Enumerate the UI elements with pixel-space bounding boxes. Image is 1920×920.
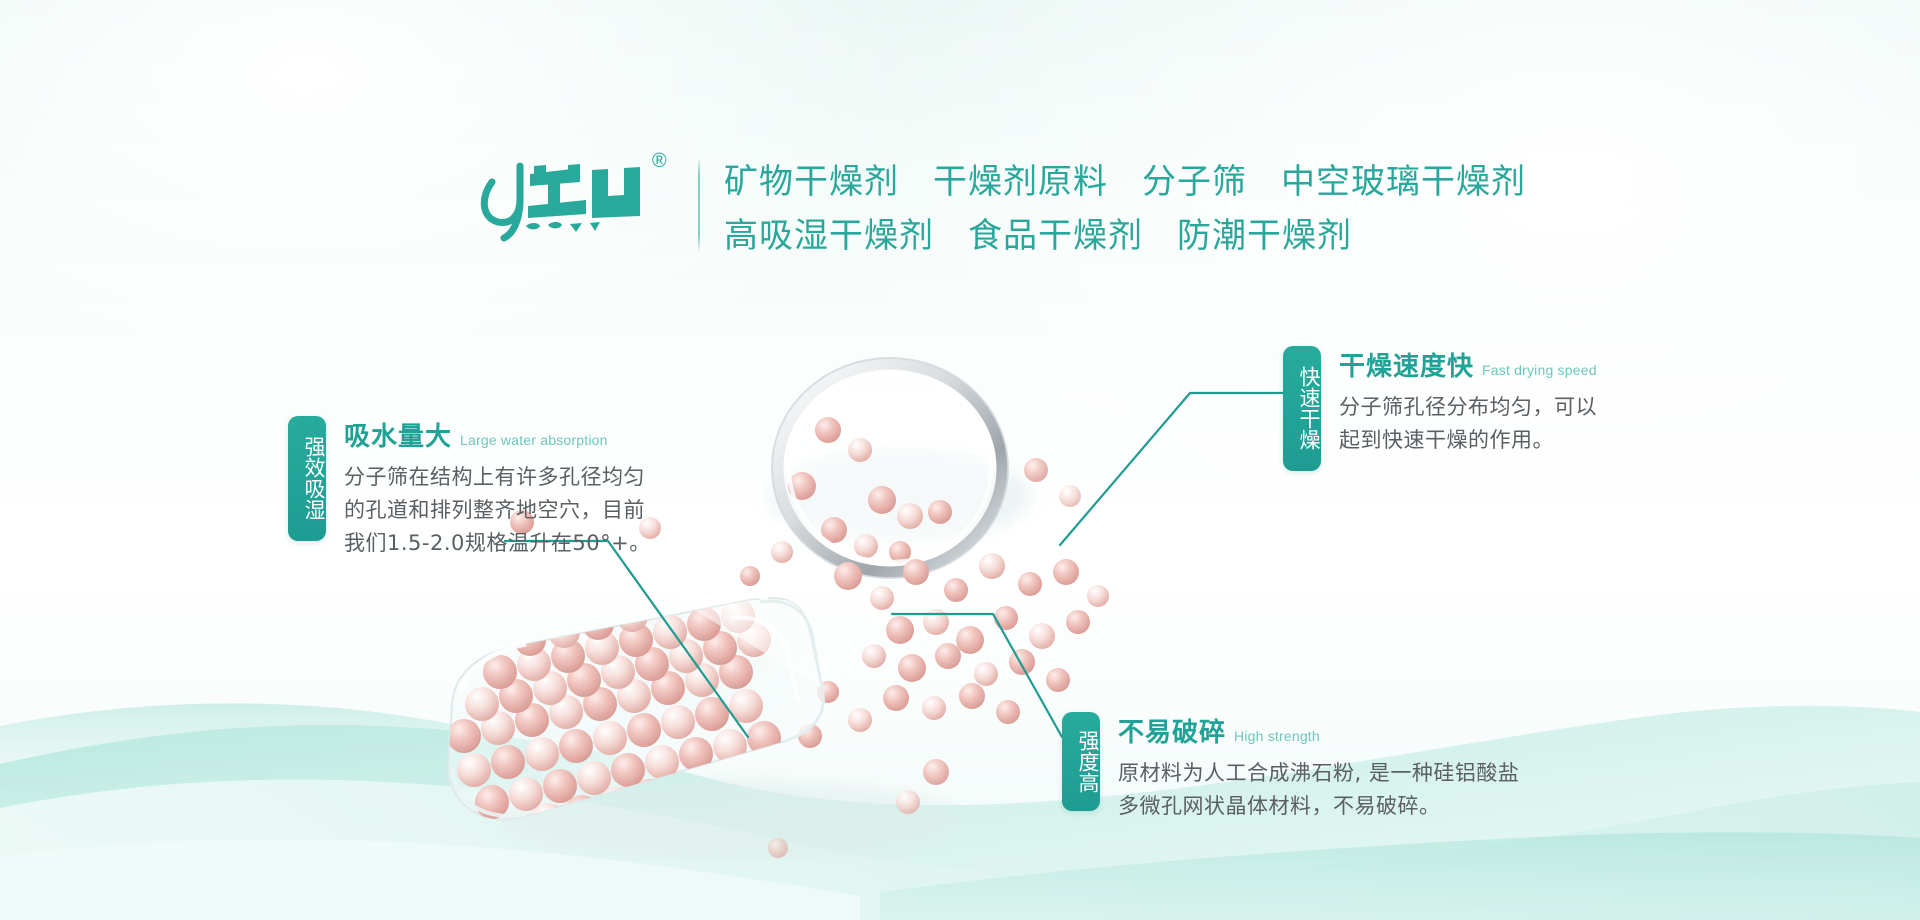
main-nav: 矿物干燥剂 干燥剂原料 分子筛 中空玻璃干燥剂 高吸湿干燥剂 食品干燥剂 防潮干…	[724, 151, 1724, 259]
nav-item-mineral-desiccant[interactable]: 矿物干燥剂	[724, 154, 899, 203]
nav-item-food-desiccant[interactable]: 食品干燥剂	[968, 208, 1143, 257]
site-header: ® 矿物干燥剂 干燥剂原料 分子筛 中空玻璃干燥剂 高吸湿干燥剂 食品干燥剂 防…	[0, 0, 1920, 250]
callout-strength-title: 不易破碎	[1118, 712, 1226, 749]
callout-speed-subtitle: Fast drying speed	[1482, 362, 1597, 378]
callout-absorption-body: 分子筛在结构上有许多孔径均匀 的孔道和排列整齐地空穴，目前 我们1.5-2.0规…	[344, 461, 651, 560]
callout-strength-body: 原材料为人工合成沸石粉, 是一种硅铝酸盐 多微孔网状晶体材料，不易破碎。	[1118, 757, 1519, 823]
callout-absorption-text: 吸水量大 Large water absorption 分子筛在结构上有许多孔径…	[344, 416, 651, 560]
bottle-cap-ring	[772, 358, 1008, 578]
callout-absorption-title-row: 吸水量大 Large water absorption	[344, 416, 651, 453]
nav-item-moisture-proof-desiccant[interactable]: 防潮干燥剂	[1177, 208, 1352, 257]
badge-strong-moisture-absorption: 强效吸湿	[288, 416, 326, 541]
callout-strength-subtitle: High strength	[1234, 728, 1320, 744]
callout-speed-body: 分子筛孔径分布均匀，可以 起到快速干燥的作用。	[1339, 391, 1597, 457]
registered-mark: ®	[652, 150, 667, 173]
callout-large-water-absorption: 强效吸湿 吸水量大 Large water absorption 分子筛在结构上…	[288, 416, 651, 560]
badge-fast-drying: 快速干燥	[1283, 346, 1321, 471]
banner-stage: ® 矿物干燥剂 干燥剂原料 分子筛 中空玻璃干燥剂 高吸湿干燥剂 食品干燥剂 防…	[0, 0, 1920, 920]
nav-item-desiccant-raw-material[interactable]: 干燥剂原料	[933, 154, 1108, 203]
callout-strength-text: 不易破碎 High strength 原材料为人工合成沸石粉, 是一种硅铝酸盐 …	[1118, 712, 1519, 823]
nav-divider	[698, 157, 700, 253]
nav-item-high-moisture-absorption-desiccant[interactable]: 高吸湿干燥剂	[724, 208, 934, 257]
product-photo-desiccant-bottle	[430, 300, 1130, 860]
nav-row-1: 矿物干燥剂 干燥剂原料 分子筛 中空玻璃干燥剂	[724, 151, 1724, 205]
callout-strength-title-row: 不易破碎 High strength	[1118, 712, 1519, 749]
nav-item-molecular-sieve[interactable]: 分子筛	[1142, 154, 1247, 203]
callout-high-strength: 强度高 不易破碎 High strength 原材料为人工合成沸石粉, 是一种硅…	[1062, 712, 1519, 823]
callout-absorption-subtitle: Large water absorption	[460, 432, 608, 448]
callout-speed-title: 干燥速度快	[1339, 346, 1474, 383]
nav-item-insulating-glass-desiccant[interactable]: 中空玻璃干燥剂	[1281, 154, 1526, 203]
brand-logo[interactable]	[468, 148, 668, 248]
nav-row-2: 高吸湿干燥剂 食品干燥剂 防潮干燥剂	[724, 205, 1724, 259]
badge-high-strength: 强度高	[1062, 712, 1100, 811]
callout-fast-drying-speed: 快速干燥 干燥速度快 Fast drying speed 分子筛孔径分布均匀，可…	[1283, 346, 1597, 471]
callout-speed-text: 干燥速度快 Fast drying speed 分子筛孔径分布均匀，可以 起到快…	[1339, 346, 1597, 457]
callout-speed-title-row: 干燥速度快 Fast drying speed	[1339, 346, 1597, 383]
callout-absorption-title: 吸水量大	[344, 416, 452, 453]
